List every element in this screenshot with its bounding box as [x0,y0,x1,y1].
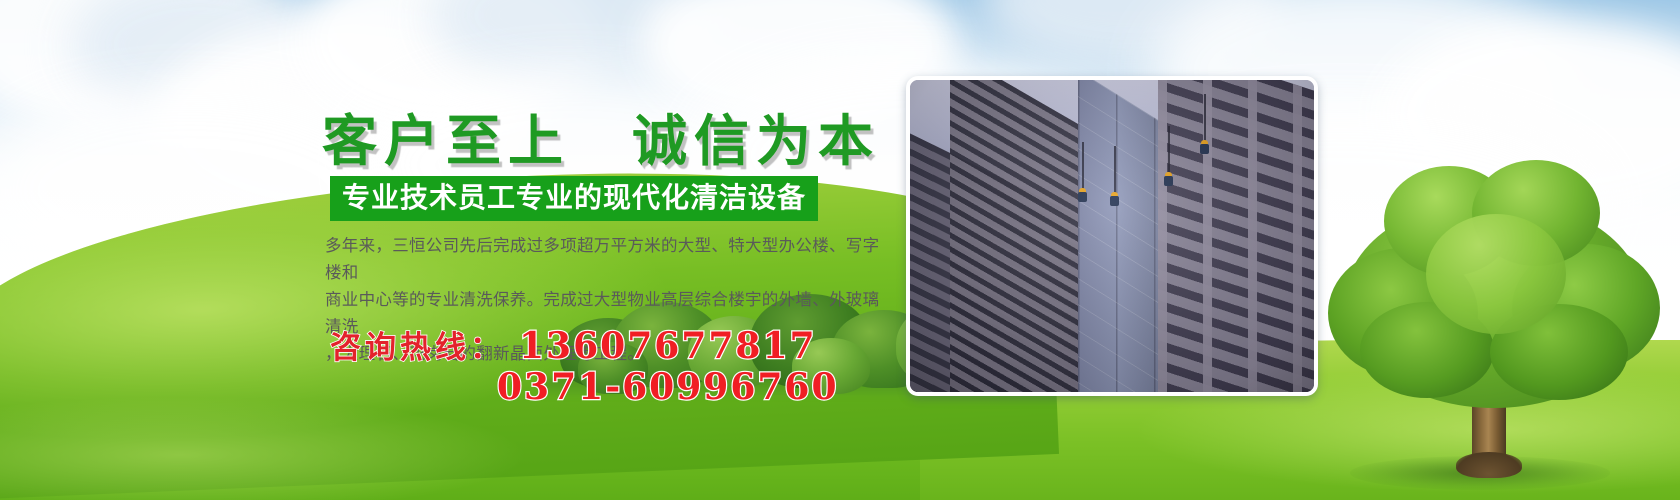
photo-vignette [910,80,1314,392]
photo-inner [910,80,1314,392]
subtitle-bar: 专业技术员工专业的现代化清洁设备 [330,176,818,221]
tree-canopy [1426,214,1566,334]
hotline-landline-number[interactable]: 0371-60996760 [497,366,839,408]
page-title: 客户至上 诚信为本 [322,96,880,176]
hotline-row: 咨询热线： 13607677817 [330,322,817,367]
tree-illustration [1322,152,1662,482]
building-photo[interactable] [906,76,1318,396]
hotline-mobile-number[interactable]: 13607677817 [519,325,817,367]
promo-banner: 客户至上 诚信为本 专业技术员工专业的现代化清洁设备 多年来，三恒公司先后完成过… [0,0,1680,500]
description-line: 多年来，三恒公司先后完成过多项超万平方米的大型、特大型办公楼、写字楼和 [325,232,893,286]
hotline-label: 咨询热线： [330,322,505,367]
